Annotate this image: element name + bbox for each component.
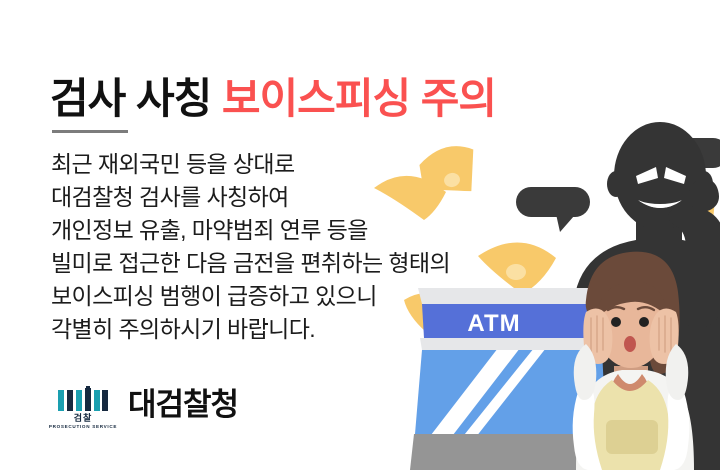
money-bill-icon-4 [478, 242, 556, 294]
headline-red-text: 보이스피싱 주의 [222, 75, 496, 122]
body-copy-line-1: 최근 재외국민 등을 상대로 [51, 148, 450, 181]
logo-wordmark: 대검찰청 [128, 389, 238, 420]
body-copy-line-3: 개인정보 유출, 마약범죄 연루 등을 [51, 214, 450, 247]
body-copy-line-5: 보이스피싱 범행이 급증하고 있으니 [51, 280, 450, 313]
title-divider [52, 130, 128, 133]
logo-pillars-icon [57, 386, 109, 412]
atm-label: ATM [467, 310, 520, 337]
voice-phishing-warning-banner: ATM 검사 사칭 보이스피싱 주의 최근 재외국민 등을 상대로 대검찰청 검… [0, 0, 720, 470]
body-copy-line-6: 각별히 주의하시기 바랍니다. [51, 313, 450, 346]
page-title: 검사 사칭 보이스피싱 주의 [50, 76, 496, 122]
body-copy-line-2: 대검찰청 검사를 사칭하여 [51, 181, 450, 214]
logo-mark-korean-text: 검찰 [74, 414, 93, 423]
victim-character [573, 252, 694, 470]
body-copy: 최근 재외국민 등을 상대로 대검찰청 검사를 사칭하여 개인정보 유출, 마약… [51, 148, 450, 346]
speech-bubble-icon-left [516, 187, 590, 232]
logo-mark: 검찰 PROSECUTION SERVICE [52, 386, 114, 430]
logo-mark-english-text: PROSECUTION SERVICE [49, 425, 117, 430]
prosecution-service-logo: 검찰 PROSECUTION SERVICE 대검찰청 [52, 386, 238, 430]
body-copy-line-4: 빌미로 접근한 다음 금전을 편취하는 형태의 [51, 247, 450, 280]
headline-black-text: 검사 사칭 [50, 75, 211, 122]
